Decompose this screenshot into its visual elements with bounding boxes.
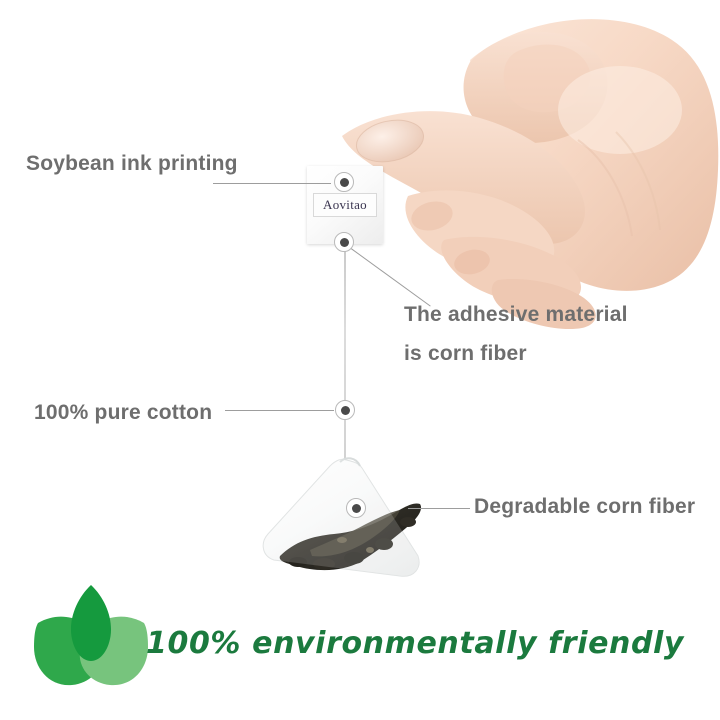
leader-line-cotton [225,410,334,411]
marker-dot-soybean [334,172,354,192]
leader-line-soybean [213,183,331,184]
callout-degradable-corn-fiber: Degradable corn fiber [474,495,695,519]
hand-svg [320,0,720,330]
marker-dot-degradable [346,498,366,518]
marker-dot-adhesive [334,232,354,252]
leaf-center-icon [71,585,111,661]
marker-dot-cotton [335,400,355,420]
tea-leaf-bit-5 [400,517,416,527]
tag-brand-label: Aovitao [323,197,367,213]
leaf-logo-svg [32,583,150,688]
hand-highlight [558,66,682,154]
product-infographic: Aovitao [0,0,720,720]
callout-soybean-ink-printing: Soybean ink printing [26,152,238,176]
callout-adhesive-material-line1: The adhesive material [404,303,628,327]
callout-adhesive-material-line2: is corn fiber [404,342,527,366]
hand-illustration [320,0,720,330]
tea-bag-string [344,243,346,461]
eco-leaf-logo [32,583,150,688]
leader-line-degradable [408,508,470,509]
callout-pure-cotton: 100% pure cotton [34,401,212,425]
tag-brand-frame: Aovitao [313,193,377,217]
eco-slogan: 100% environmentally friendly [146,626,684,661]
